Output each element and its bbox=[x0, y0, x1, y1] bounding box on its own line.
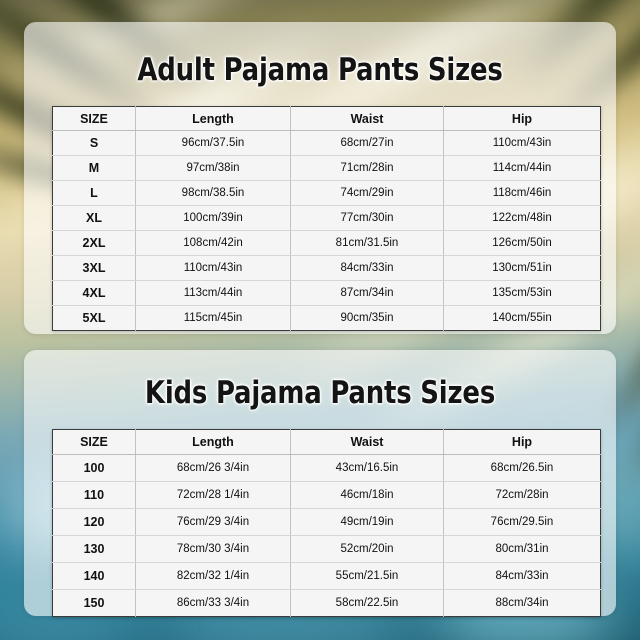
cell-hip: 135cm/53in bbox=[444, 281, 601, 306]
table-row: XL100cm/39in77cm/30in122cm/48in bbox=[53, 206, 601, 231]
column-header-length: Length bbox=[136, 107, 291, 131]
table-row: L98cm/38.5in74cm/29in118cm/46in bbox=[53, 181, 601, 206]
column-header-size: SIZE bbox=[53, 107, 136, 131]
cell-hip: 110cm/43in bbox=[444, 131, 601, 156]
cell-waist: 87cm/34in bbox=[291, 281, 444, 306]
table-row: 14082cm/32 1/4in55cm/21.5in84cm/33in bbox=[53, 563, 601, 590]
table-row: 2XL108cm/42in81cm/31.5in126cm/50in bbox=[53, 231, 601, 256]
cell-size: 5XL bbox=[53, 306, 136, 331]
cell-waist: 74cm/29in bbox=[291, 181, 444, 206]
cell-hip: 126cm/50in bbox=[444, 231, 601, 256]
table-header-row: SIZE Length Waist Hip bbox=[53, 430, 601, 455]
cell-length: 72cm/28 1/4in bbox=[136, 482, 291, 509]
cell-waist: 46cm/18in bbox=[291, 482, 444, 509]
cell-length: 115cm/45in bbox=[136, 306, 291, 331]
adult-size-panel: Adult Pajama Pants Sizes SIZE Length Wai… bbox=[24, 22, 616, 334]
cell-size: L bbox=[53, 181, 136, 206]
cell-waist: 77cm/30in bbox=[291, 206, 444, 231]
cell-waist: 58cm/22.5in bbox=[291, 590, 444, 617]
cell-hip: 118cm/46in bbox=[444, 181, 601, 206]
column-header-waist: Waist bbox=[291, 107, 444, 131]
cell-size: 140 bbox=[53, 563, 136, 590]
cell-length: 78cm/30 3/4in bbox=[136, 536, 291, 563]
cell-length: 98cm/38.5in bbox=[136, 181, 291, 206]
cell-size: M bbox=[53, 156, 136, 181]
column-header-hip: Hip bbox=[444, 107, 601, 131]
table-row: 10068cm/26 3/4in43cm/16.5in68cm/26.5in bbox=[53, 455, 601, 482]
cell-length: 97cm/38in bbox=[136, 156, 291, 181]
table-row: 5XL115cm/45in90cm/35in140cm/55in bbox=[53, 306, 601, 331]
table-row: M97cm/38in71cm/28in114cm/44in bbox=[53, 156, 601, 181]
cell-length: 108cm/42in bbox=[136, 231, 291, 256]
cell-length: 110cm/43in bbox=[136, 256, 291, 281]
table-row: 13078cm/30 3/4in52cm/20in80cm/31in bbox=[53, 536, 601, 563]
table-row: 4XL113cm/44in87cm/34in135cm/53in bbox=[53, 281, 601, 306]
adult-size-table: SIZE Length Waist Hip S96cm/37.5in68cm/2… bbox=[52, 106, 601, 331]
adult-panel-title: Adult Pajama Pants Sizes bbox=[45, 52, 596, 88]
cell-waist: 90cm/35in bbox=[291, 306, 444, 331]
cell-waist: 52cm/20in bbox=[291, 536, 444, 563]
cell-hip: 80cm/31in bbox=[444, 536, 601, 563]
cell-hip: 72cm/28in bbox=[444, 482, 601, 509]
cell-waist: 55cm/21.5in bbox=[291, 563, 444, 590]
column-header-hip: Hip bbox=[444, 430, 601, 455]
cell-waist: 84cm/33in bbox=[291, 256, 444, 281]
cell-length: 113cm/44in bbox=[136, 281, 291, 306]
table-row: S96cm/37.5in68cm/27in110cm/43in bbox=[53, 131, 601, 156]
table-row: 11072cm/28 1/4in46cm/18in72cm/28in bbox=[53, 482, 601, 509]
cell-size: 4XL bbox=[53, 281, 136, 306]
column-header-waist: Waist bbox=[291, 430, 444, 455]
table-row: 12076cm/29 3/4in49cm/19in76cm/29.5in bbox=[53, 509, 601, 536]
cell-length: 82cm/32 1/4in bbox=[136, 563, 291, 590]
cell-hip: 68cm/26.5in bbox=[444, 455, 601, 482]
cell-length: 100cm/39in bbox=[136, 206, 291, 231]
cell-size: XL bbox=[53, 206, 136, 231]
cell-size: 3XL bbox=[53, 256, 136, 281]
cell-hip: 122cm/48in bbox=[444, 206, 601, 231]
table-row: 15086cm/33 3/4in58cm/22.5in88cm/34in bbox=[53, 590, 601, 617]
cell-size: S bbox=[53, 131, 136, 156]
cell-length: 68cm/26 3/4in bbox=[136, 455, 291, 482]
cell-length: 76cm/29 3/4in bbox=[136, 509, 291, 536]
cell-hip: 88cm/34in bbox=[444, 590, 601, 617]
cell-size: 150 bbox=[53, 590, 136, 617]
cell-waist: 43cm/16.5in bbox=[291, 455, 444, 482]
kids-table-body: 10068cm/26 3/4in43cm/16.5in68cm/26.5in11… bbox=[53, 455, 601, 617]
cell-waist: 71cm/28in bbox=[291, 156, 444, 181]
cell-hip: 76cm/29.5in bbox=[444, 509, 601, 536]
table-row: 3XL110cm/43in84cm/33in130cm/51in bbox=[53, 256, 601, 281]
column-header-size: SIZE bbox=[53, 430, 136, 455]
cell-waist: 49cm/19in bbox=[291, 509, 444, 536]
cell-waist: 68cm/27in bbox=[291, 131, 444, 156]
table-header-row: SIZE Length Waist Hip bbox=[53, 107, 601, 131]
cell-size: 110 bbox=[53, 482, 136, 509]
cell-hip: 114cm/44in bbox=[444, 156, 601, 181]
cell-hip: 84cm/33in bbox=[444, 563, 601, 590]
cell-size: 100 bbox=[53, 455, 136, 482]
cell-hip: 140cm/55in bbox=[444, 306, 601, 331]
cell-size: 2XL bbox=[53, 231, 136, 256]
cell-hip: 130cm/51in bbox=[444, 256, 601, 281]
kids-panel-title: Kids Pajama Pants Sizes bbox=[45, 375, 596, 411]
kids-size-panel: Kids Pajama Pants Sizes SIZE Length Wais… bbox=[24, 350, 616, 616]
cell-length: 86cm/33 3/4in bbox=[136, 590, 291, 617]
cell-waist: 81cm/31.5in bbox=[291, 231, 444, 256]
cell-size: 120 bbox=[53, 509, 136, 536]
kids-size-table: SIZE Length Waist Hip 10068cm/26 3/4in43… bbox=[52, 429, 601, 617]
cell-length: 96cm/37.5in bbox=[136, 131, 291, 156]
column-header-length: Length bbox=[136, 430, 291, 455]
cell-size: 130 bbox=[53, 536, 136, 563]
adult-table-body: S96cm/37.5in68cm/27in110cm/43inM97cm/38i… bbox=[53, 131, 601, 331]
